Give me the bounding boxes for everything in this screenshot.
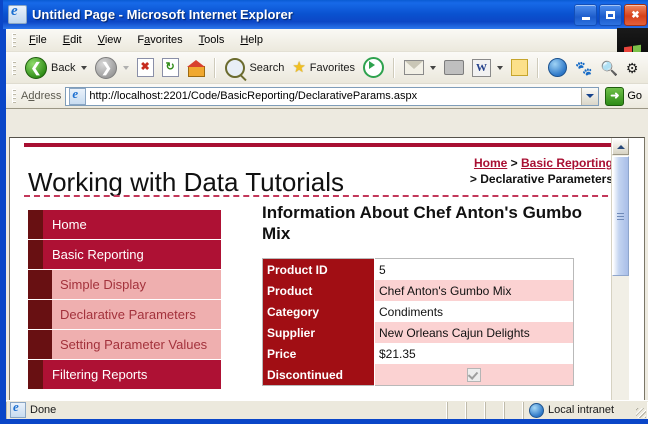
- breadcrumb-home-link[interactable]: Home: [474, 156, 507, 170]
- dashed-divider: [24, 195, 618, 197]
- maximize-icon: [606, 11, 615, 19]
- thumb-grip-icon: [617, 213, 624, 220]
- row-label-product-id: Product ID: [263, 259, 375, 281]
- row-value-price: $21.35: [375, 343, 574, 364]
- row-label-category: Category: [263, 301, 375, 322]
- forward-dropdown-icon[interactable]: [123, 66, 129, 70]
- status-pad-2: [466, 402, 485, 419]
- row-label-product: Product: [263, 280, 375, 301]
- breadcrumb: Home > Basic Reporting > Declarative Par…: [470, 155, 613, 187]
- menu-view[interactable]: View: [90, 32, 130, 48]
- row-value-discontinued: [375, 364, 574, 386]
- breadcrumb-line2: > Declarative Parameters: [470, 171, 613, 187]
- sidebar-item-filtering-reports[interactable]: Filtering Reports: [28, 360, 221, 390]
- toolbar-grip-handle[interactable]: [12, 61, 16, 75]
- search-icon: [225, 58, 245, 78]
- refresh-button[interactable]: ↻: [158, 56, 183, 79]
- status-pad-4: [504, 402, 523, 419]
- menu-grip-handle[interactable]: [12, 33, 16, 47]
- globe-icon: [548, 58, 567, 77]
- globe-button[interactable]: [544, 56, 571, 79]
- page-icon: [69, 88, 86, 105]
- zone-globe-icon: [529, 403, 544, 418]
- sidebar-item-declarative-parameters[interactable]: Declarative Parameters: [28, 300, 221, 330]
- vertical-scrollbar[interactable]: [611, 138, 629, 417]
- address-grip-handle[interactable]: [12, 89, 16, 103]
- home-button[interactable]: [183, 58, 209, 78]
- minimize-icon: [582, 17, 590, 20]
- address-label: Address: [21, 90, 61, 102]
- main-toolbar: ❮ Back ❯ ✖ ↻ Search ★: [6, 52, 648, 84]
- sidebar-item-setting-parameter-values[interactable]: Setting Parameter Values: [28, 330, 221, 360]
- address-bar: Address http://localhost:2201/Code/Basic…: [6, 84, 648, 109]
- favorites-label: Favorites: [310, 62, 355, 74]
- sidebar-item-basic-reporting[interactable]: Basic Reporting: [28, 240, 221, 270]
- row-value-product-id: 5: [375, 259, 574, 281]
- go-button[interactable]: ➜ Go: [599, 87, 648, 106]
- search-button[interactable]: Search: [221, 56, 288, 80]
- go-arrow-icon: ➜: [605, 87, 624, 106]
- scrollbar-thumb[interactable]: [612, 156, 629, 276]
- print-button[interactable]: [440, 58, 468, 77]
- row-label-supplier: Supplier: [263, 322, 375, 343]
- resize-grip-icon[interactable]: [636, 408, 646, 418]
- forward-button[interactable]: ❯: [91, 55, 133, 81]
- media-icon: [363, 57, 384, 78]
- research-button[interactable]: 🔍: [596, 59, 621, 77]
- chevron-down-icon: [586, 94, 594, 98]
- back-label: Back: [51, 62, 75, 74]
- back-dropdown-icon[interactable]: [81, 66, 87, 70]
- window-controls: ✖: [574, 4, 647, 26]
- maximize-button[interactable]: [599, 4, 622, 26]
- table-row: Product ID 5: [263, 259, 574, 281]
- minimize-button[interactable]: [574, 4, 597, 26]
- stop-button[interactable]: ✖: [133, 56, 158, 79]
- status-bar: Done Local intranet: [6, 400, 648, 419]
- address-input[interactable]: http://localhost:2201/Code/BasicReportin…: [65, 87, 599, 106]
- note-icon: [511, 59, 528, 76]
- search-label: Search: [249, 62, 284, 74]
- table-row: Price $21.35: [263, 343, 574, 364]
- back-button[interactable]: ❮ Back: [21, 55, 91, 81]
- sidebar-item-simple-display[interactable]: Simple Display: [28, 270, 221, 300]
- status-pad-3: [485, 402, 504, 419]
- table-row: Product Chef Anton's Gumbo Mix: [263, 280, 574, 301]
- menu-file[interactable]: FFileile: [21, 32, 55, 48]
- extra-button[interactable]: ⚙: [622, 59, 643, 77]
- table-row: Category Condiments: [263, 301, 574, 322]
- chevron-up-icon: [617, 145, 625, 149]
- breadcrumb-sep: >: [507, 156, 521, 170]
- toolbar-separator: [214, 58, 216, 78]
- product-detail-table: Product ID 5 Product Chef Anton's Gumbo …: [262, 258, 574, 386]
- menu-tools[interactable]: Tools: [191, 32, 233, 48]
- security-zone-cell[interactable]: Local intranet: [523, 402, 648, 419]
- star-icon: ★: [292, 61, 305, 75]
- word-icon: W: [472, 59, 491, 77]
- scroll-up-button[interactable]: [612, 138, 629, 155]
- ie-logo-icon: [8, 5, 27, 24]
- edit-dropdown-icon[interactable]: [497, 66, 503, 70]
- messenger-button[interactable]: 🐾: [571, 59, 596, 77]
- menu-help[interactable]: Help: [232, 32, 271, 48]
- zone-text: Local intranet: [548, 404, 614, 416]
- status-message-cell: Done: [6, 402, 447, 419]
- main-content: Information About Chef Anton's Gumbo Mix…: [262, 202, 592, 386]
- address-url-text: http://localhost:2201/Code/BasicReportin…: [89, 90, 581, 102]
- edit-word-button[interactable]: W: [468, 57, 507, 79]
- media-button[interactable]: [359, 55, 388, 80]
- mail-dropdown-icon[interactable]: [430, 66, 436, 70]
- page-title: Working with Data Tutorials: [28, 167, 344, 198]
- status-pad-1: [447, 402, 466, 419]
- table-row: Discontinued: [263, 364, 574, 386]
- research-icon: 🔍: [600, 61, 617, 75]
- content-heading: Information About Chef Anton's Gumbo Mix: [262, 202, 592, 244]
- breadcrumb-line1: Home > Basic Reporting: [470, 155, 613, 171]
- breadcrumb-section-link[interactable]: Basic Reporting: [521, 156, 613, 170]
- title-bar: Untitled Page - Microsoft Internet Explo…: [3, 0, 648, 29]
- discontinued-checkbox: [467, 368, 481, 382]
- browser-chrome: FFileile Edit View Favorites Tools Help …: [6, 29, 648, 417]
- close-button[interactable]: ✖: [624, 4, 647, 26]
- table-row: Supplier New Orleans Cajun Delights: [263, 322, 574, 343]
- messenger-icon: 🐾: [575, 61, 592, 75]
- mail-icon: [404, 60, 424, 75]
- toolbar-separator-2: [393, 58, 395, 78]
- row-label-price: Price: [263, 343, 375, 364]
- home-icon: [187, 60, 205, 76]
- page-viewport: Working with Data Tutorials Home > Basic…: [9, 137, 645, 418]
- row-value-supplier: New Orleans Cajun Delights: [375, 322, 574, 343]
- stop-icon: ✖: [137, 58, 154, 77]
- window-title: Untitled Page - Microsoft Internet Explo…: [32, 7, 293, 22]
- address-dropdown-button[interactable]: [581, 88, 598, 105]
- header-rule: [24, 143, 618, 147]
- refresh-icon: ↻: [162, 58, 179, 77]
- status-text: Done: [30, 404, 56, 416]
- printer-icon: [444, 60, 464, 75]
- puzzle-icon: ⚙: [626, 61, 639, 75]
- row-label-discontinued: Discontinued: [263, 364, 375, 386]
- status-ie-icon: [10, 402, 26, 418]
- sidebar-nav: Home Basic Reporting Simple Display Decl…: [28, 210, 221, 390]
- toolbar-separator-3: [537, 58, 539, 78]
- browser-window: Untitled Page - Microsoft Internet Explo…: [0, 0, 648, 424]
- menu-favorites[interactable]: Favorites: [129, 32, 190, 48]
- web-page: Working with Data Tutorials Home > Basic…: [10, 138, 629, 417]
- row-value-product: Chef Anton's Gumbo Mix: [375, 280, 574, 301]
- go-label: Go: [627, 90, 642, 102]
- sidebar-item-home[interactable]: Home: [28, 210, 221, 240]
- row-value-category: Condiments: [375, 301, 574, 322]
- menu-bar: FFileile Edit View Favorites Tools Help: [6, 29, 648, 52]
- mail-button[interactable]: [400, 58, 440, 77]
- menu-edit[interactable]: Edit: [55, 32, 90, 48]
- back-arrow-icon: ❮: [25, 57, 47, 79]
- forward-arrow-icon: ❯: [95, 57, 117, 79]
- notes-button[interactable]: [507, 57, 532, 78]
- favorites-button[interactable]: ★ Favorites: [288, 59, 359, 77]
